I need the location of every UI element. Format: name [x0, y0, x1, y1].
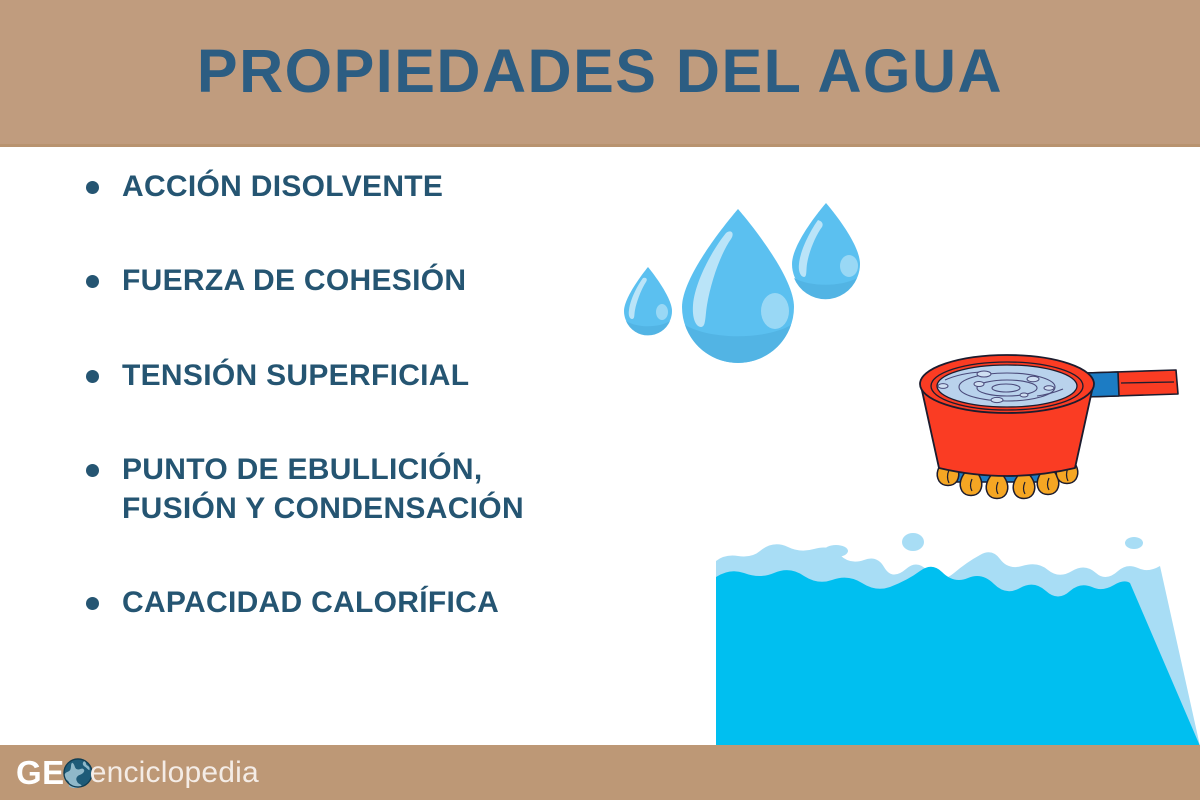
list-item: TENSIÓN SUPERFICIAL: [78, 357, 678, 395]
list-item: ACCIÓN DISOLVENTE: [78, 168, 678, 206]
bullet-icon: [86, 370, 99, 383]
brand-prefix-label: GE: [16, 756, 65, 789]
bullet-icon: [86, 275, 99, 288]
list-item-label: FUERZA DE COHESIÓN: [122, 262, 678, 300]
saucepan-boiling-icon: [905, 348, 1195, 503]
bullet-icon: [86, 181, 99, 194]
list-item: CAPACIDAD CALORÍFICA: [78, 584, 678, 622]
globe-icon: [63, 758, 93, 788]
infographic-poster: PROPIEDADES DEL AGUA ACCIÓN DISOLVENTE F…: [0, 0, 1200, 800]
saucepan-handle: [1085, 370, 1178, 397]
water-drop-medium: [792, 203, 860, 299]
brand-logo[interactable]: GE enciclopedia: [16, 753, 259, 793]
water-drops-icon: [610, 195, 880, 380]
saucepan-body: [920, 355, 1094, 476]
list-item-label: PUNTO DE EBULLICIÓN, FUSIÓN Y CONDENSACI…: [122, 451, 678, 528]
bullet-icon: [86, 464, 99, 477]
water-main-body: [716, 567, 1200, 746]
header-bar: PROPIEDADES DEL AGUA: [0, 0, 1200, 147]
water-drop-large: [682, 209, 794, 363]
bullet-icon: [86, 597, 99, 610]
footer-bar: GE enciclopedia: [0, 745, 1200, 800]
sea-water-icon: [716, 530, 1200, 746]
list-item-label: CAPACIDAD CALORÍFICA: [122, 584, 678, 622]
water-drop-small: [624, 267, 672, 335]
page-title: PROPIEDADES DEL AGUA: [197, 41, 1003, 106]
list-item-label: TENSIÓN SUPERFICIAL: [122, 357, 678, 395]
list-item: PUNTO DE EBULLICIÓN, FUSIÓN Y CONDENSACI…: [78, 451, 678, 528]
list-item: FUERZA DE COHESIÓN: [78, 262, 678, 300]
list-item-label: ACCIÓN DISOLVENTE: [122, 168, 678, 206]
properties-list: ACCIÓN DISOLVENTE FUERZA DE COHESIÓN TEN…: [78, 168, 678, 622]
brand-suffix-label: enciclopedia: [90, 758, 259, 788]
